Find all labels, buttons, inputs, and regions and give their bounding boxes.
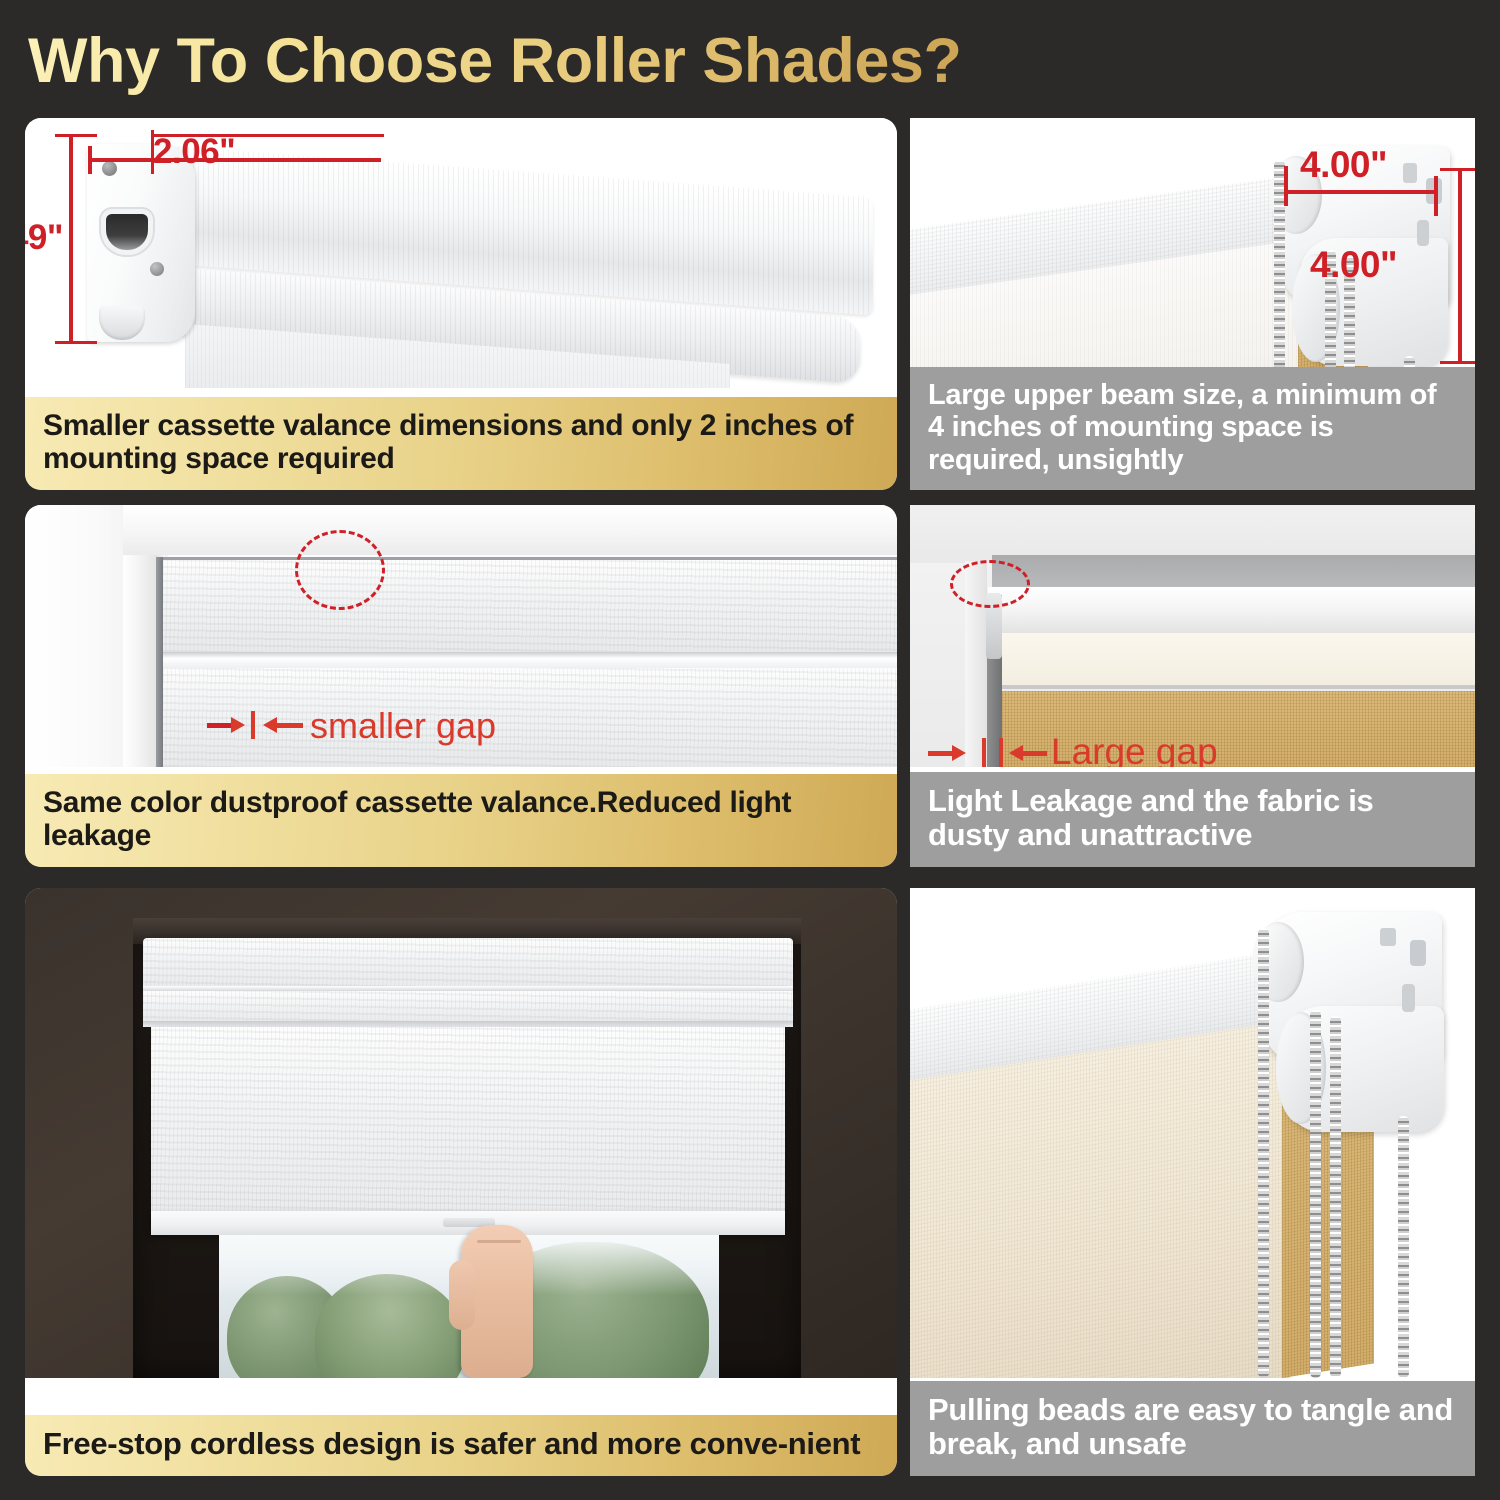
panel-2-caption: Large upper beam size, a minimum of 4 in… xyxy=(910,367,1475,490)
gap-arrow-right-head xyxy=(263,717,277,733)
panel-4-artwork: Large gap xyxy=(910,505,1475,767)
beam-dim-height-label: 4.00" xyxy=(1310,244,1397,286)
end-cap-screw-mid xyxy=(150,262,164,276)
dim-height-label: 5.49" xyxy=(25,218,63,258)
panel-5-caption: Free-stop cordless design is safer and m… xyxy=(25,1415,897,1476)
beam-dim-height-tick-bottom xyxy=(1440,361,1475,364)
pull-bead-chain-1 xyxy=(1258,928,1269,1378)
panel-3-artwork: smaller gap xyxy=(25,505,897,767)
end-cap-screw-top xyxy=(102,161,117,176)
cream-fabric-band xyxy=(988,633,1475,689)
cassette-bottom-rail xyxy=(160,652,897,668)
window-frame-header xyxy=(123,505,897,555)
cassette-valance-front xyxy=(163,557,897,652)
infographic-root: Why To Choose Roller Shades? xyxy=(0,0,1500,1500)
beam-dim-width-label: 4.00" xyxy=(1300,144,1387,186)
gap-arrow-right-shaft xyxy=(277,723,303,728)
beam-dim-width-tick-right xyxy=(1434,176,1438,216)
bracket-slot-top xyxy=(1403,163,1417,183)
panel-4-caption: Light Leakage and the fabric is dusty an… xyxy=(910,772,1475,867)
beige-fabric-panel xyxy=(910,1020,1290,1378)
panel-1-artwork: 2.06" 5.49" xyxy=(25,118,897,388)
dim-height-line xyxy=(69,134,73,344)
panel-1-caption: Smaller cassette valance dimensions and … xyxy=(25,397,897,490)
panel-smaller-cassette: 2.06" 5.49" Smaller cassette valance dim… xyxy=(25,118,897,490)
beam-dim-height-line xyxy=(1458,168,1462,364)
bracket-slot-c xyxy=(1402,984,1415,1012)
gap-arrow-left-head xyxy=(231,717,245,733)
pull-bead-chain-3 xyxy=(1330,1016,1341,1378)
panel-pulling-beads: Pulling beads are easy to tangle and bre… xyxy=(910,888,1475,1476)
roller-lip xyxy=(143,991,793,1025)
pull-bead-chain-2 xyxy=(1310,1010,1321,1378)
bracket-slot-low xyxy=(1417,220,1429,246)
beam-dim-height-tick-top xyxy=(1440,168,1475,171)
hand-thumb xyxy=(449,1260,475,1330)
bracket-slot-b xyxy=(1410,940,1426,966)
shade-fabric-main xyxy=(151,1027,785,1227)
hand-knuckle-line xyxy=(477,1240,521,1243)
panel-light-leakage: Large gap Light Leakage and the fabric i… xyxy=(910,505,1475,867)
bracket-slot-a xyxy=(1380,928,1396,946)
dim-width-tick-left xyxy=(88,146,92,174)
pull-bead-chain-4 xyxy=(1398,1116,1409,1378)
highlight-circle xyxy=(295,530,385,610)
large-gap-arrow-right-head xyxy=(1009,745,1023,761)
panel-3-caption: Same color dustproof cassette valance.Re… xyxy=(25,774,897,867)
large-gap-arrow-left-head xyxy=(952,745,966,761)
panel-large-upper-beam: 4.00" 4.00" Large upper beam size, a min… xyxy=(910,118,1475,490)
large-gap-label: Large gap xyxy=(1051,731,1218,767)
dim-width-line xyxy=(91,158,381,162)
large-gap-marker-bar xyxy=(982,738,986,767)
roller-tube-white xyxy=(988,587,1475,639)
smaller-gap-label: smaller gap xyxy=(310,705,496,747)
gap-marker-bar xyxy=(251,711,255,739)
beam-dim-width-tick-left xyxy=(1284,166,1288,206)
panel-free-stop-cordless: Free-stop cordless design is safer and m… xyxy=(25,888,897,1476)
cassette-headrail xyxy=(143,938,793,990)
page-title: Why To Choose Roller Shades? xyxy=(28,22,1078,100)
large-gap-marker-bar-2 xyxy=(999,738,1003,767)
side-channel-dark xyxy=(156,557,163,767)
panel-dustproof-valance: smaller gap Same color dustproof cassett… xyxy=(25,505,897,867)
dim-height-tick-top xyxy=(55,134,97,137)
panel-5-artwork xyxy=(25,888,897,1378)
panel-2-artwork: 4.00" 4.00" xyxy=(910,118,1475,388)
beam-dim-width-line xyxy=(1286,190,1438,194)
panel-6-caption: Pulling beads are easy to tangle and bre… xyxy=(910,1381,1475,1476)
large-gap-arrow-right-shaft xyxy=(1023,751,1047,756)
highlight-ellipse xyxy=(950,560,1030,608)
dim-height-tick-bottom xyxy=(55,341,97,344)
panel-6-artwork xyxy=(910,888,1475,1378)
dim-width-label: 2.06" xyxy=(153,132,235,172)
